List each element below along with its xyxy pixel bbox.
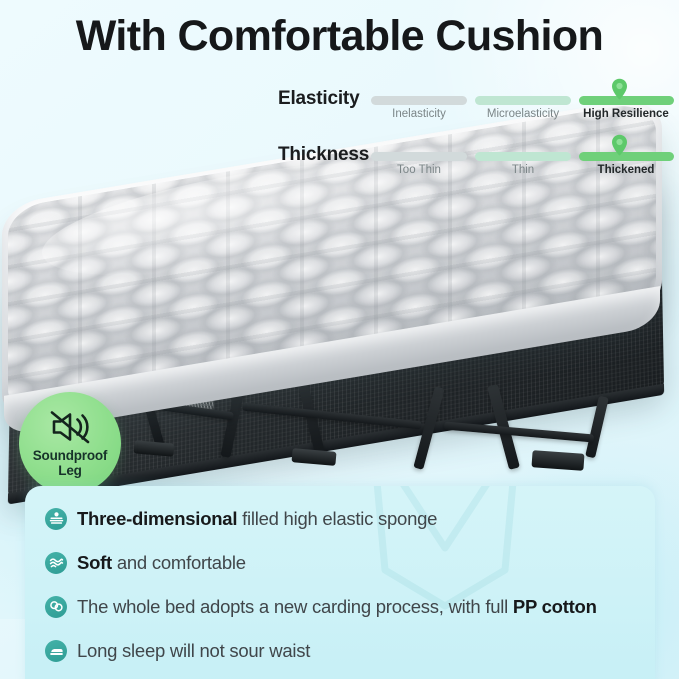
feature-text: Three-dimensional filled high elastic sp… [77,508,437,530]
map-pin-icon [611,78,628,100]
list-item: Long sleep will not sour waist [45,632,641,669]
scale-bars-elasticity: Inelasticity Microelasticity High Resili… [371,84,674,124]
feature-emphasis: PP cotton [513,596,597,617]
feature-emphasis: Three-dimensional [77,508,237,529]
scale-segment-inelasticity [371,96,467,105]
soundproof-leg-label: Soundproof Leg [33,448,107,478]
scale-label-thickness: Thickness [278,144,369,166]
scale-row-thickness: Thickness Too Thin Thin Thickened [278,140,674,196]
scale-row-elasticity: Elasticity Inelasticity Microelasticity … [278,84,674,140]
bed-pillow-icon [45,640,67,662]
list-item: Three-dimensional filled high elastic sp… [45,500,641,537]
feature-rest: Long sleep will not sour waist [77,640,310,661]
scale-label-elasticity: Elasticity [278,88,359,110]
feature-text: The whole bed adopts a new carding proce… [77,596,597,618]
feature-rest: and comfortable [112,552,246,573]
scale-caption-thickened: Thickened [564,164,679,176]
cot-foot-right [531,450,584,471]
scale-segment-too-thin [371,152,467,161]
list-item: Soft and comfortable [45,544,641,581]
scale-segment-thin [475,152,571,161]
feature-rest: The whole bed adopts a new carding proce… [77,596,513,617]
scale-caption-high-resilience: High Resilience [564,108,679,120]
features-panel: Three-dimensional filled high elastic sp… [25,486,655,679]
feature-rest: filled high elastic sponge [237,508,437,529]
feature-list: Three-dimensional filled high elastic sp… [45,500,641,676]
scale-bars-thickness: Too Thin Thin Thickened [371,140,674,180]
spring-cushion-icon [45,508,67,530]
map-pin-icon [611,134,628,156]
cot-foot-mid [291,448,336,466]
scale-segment-microelasticity [475,96,571,105]
soft-waves-icon [45,552,67,574]
feature-emphasis: Soft [77,552,112,573]
cotton-cloud-icon [45,596,67,618]
comparison-scales: Elasticity Inelasticity Microelasticity … [278,84,674,196]
speaker-muted-icon [49,408,91,446]
page-title: With Comfortable Cushion [0,14,679,59]
feature-text: Soft and comfortable [77,552,246,574]
cot-crossbar-right [444,421,594,442]
product-marketing-image: With Comfortable Cushion [0,0,679,679]
feature-text: Long sleep will not sour waist [77,640,310,662]
list-item: The whole bed adopts a new carding proce… [45,588,641,625]
soundproof-leg-badge: Soundproof Leg [19,392,121,494]
